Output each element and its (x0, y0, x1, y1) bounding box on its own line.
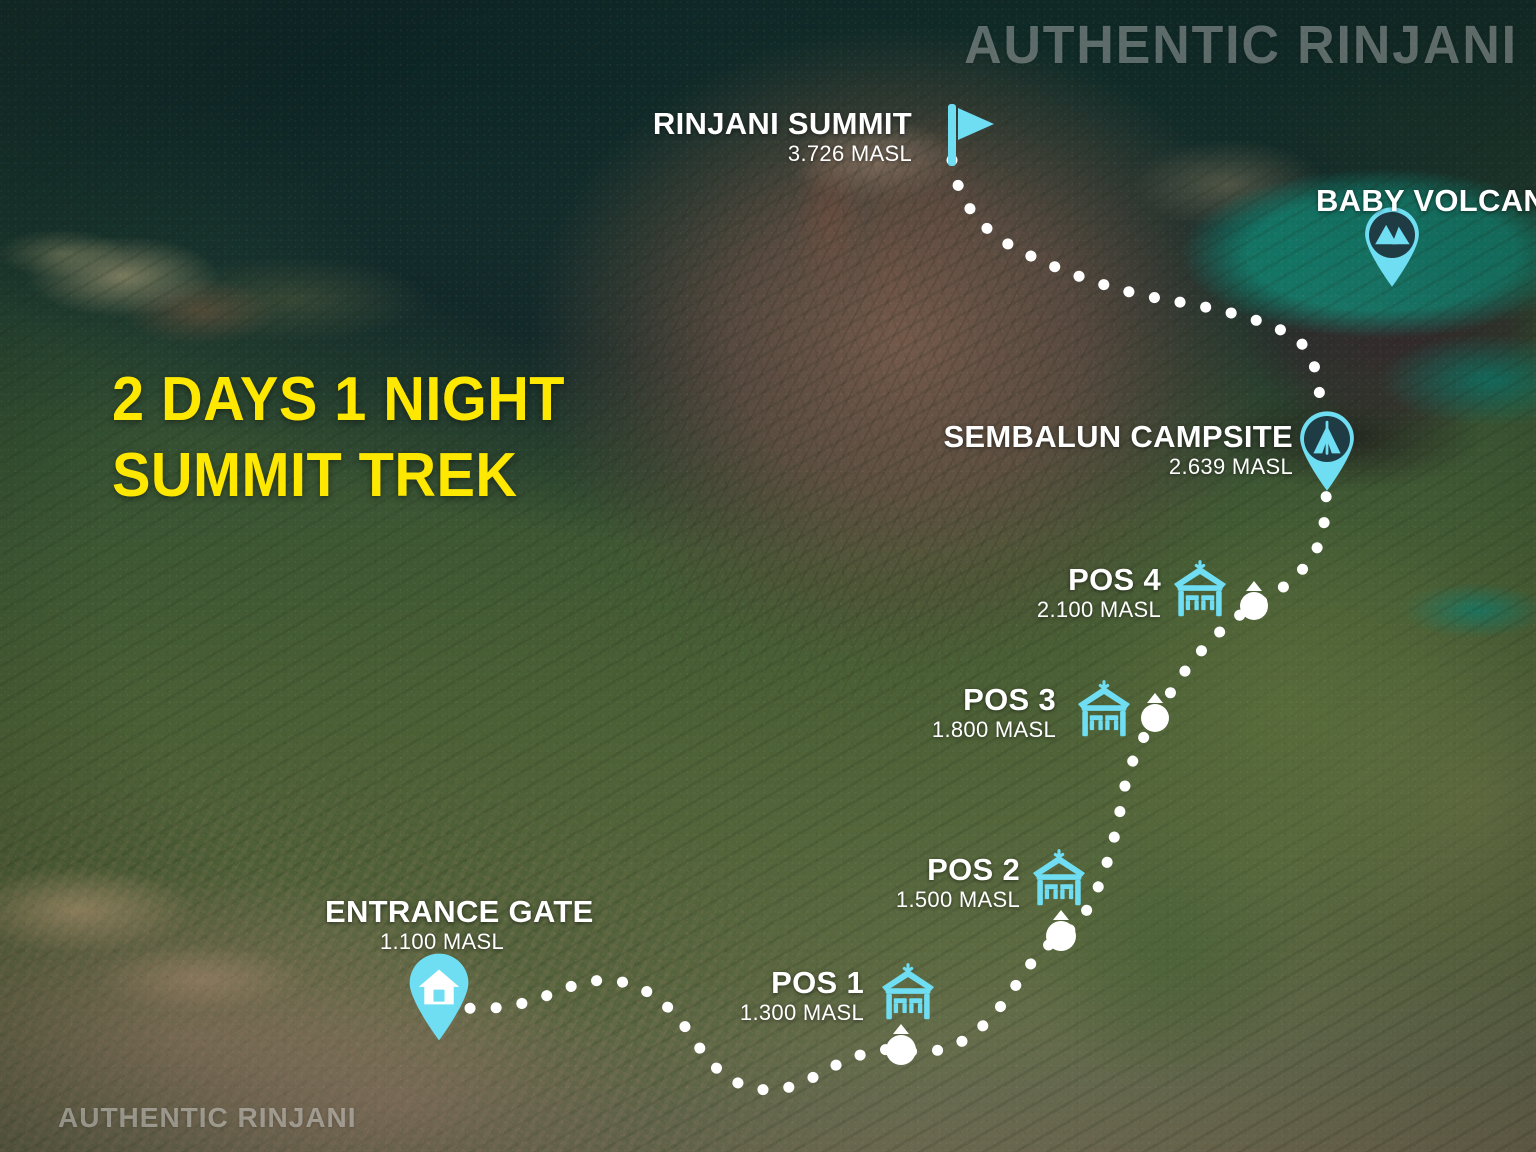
label-elevation: 1.800 MASL (676, 716, 1056, 744)
label-elevation: 1.100 MASL (325, 928, 559, 956)
marker-label-pos-4: POS 4 2.100 MASL (781, 564, 1161, 623)
label-name: BABY VOLCANO (1316, 185, 1536, 217)
marker-label-entrance-gate: ENTRANCE GATE 1.100 MASL (325, 896, 559, 955)
shelter-icon-pos-3[interactable] (1078, 682, 1130, 737)
waypoint-dot[interactable] (1240, 581, 1268, 620)
gate-pin-icon[interactable] (410, 954, 469, 1041)
trek-map-poster: 2 DAYS 1 NIGHT SUMMIT TREK AUTHENTIC RIN… (0, 0, 1536, 1152)
label-elevation: 2.639 MASL (593, 453, 1293, 481)
marker-label-pos-2: POS 2 1.500 MASL (640, 854, 1020, 913)
label-name: ENTRANCE GATE (325, 896, 559, 928)
shelter-icon-pos-4[interactable] (1174, 562, 1226, 617)
label-name: RINJANI SUMMIT (512, 108, 912, 140)
label-name: SEMBALUN CAMPSITE (593, 421, 1293, 453)
flag-icon[interactable] (948, 104, 994, 166)
volcano-pin-icon[interactable] (1365, 207, 1419, 286)
label-elevation: 3.726 MASL (512, 140, 912, 168)
marker-label-rinjani-summit: RINJANI SUMMIT 3.726 MASL (512, 108, 912, 167)
label-name: POS 1 (484, 967, 864, 999)
label-name: POS 2 (640, 854, 1020, 886)
label-name: POS 4 (781, 564, 1161, 596)
label-elevation: 1.500 MASL (640, 886, 1020, 914)
label-elevation: 1.300 MASL (484, 999, 864, 1027)
shelter-icon-pos-1[interactable] (882, 965, 934, 1020)
trail-route-dotted (466, 160, 1326, 1090)
tent-pin-icon[interactable] (1300, 411, 1354, 490)
waypoint-dot[interactable] (886, 1024, 916, 1065)
marker-label-pos-1: POS 1 1.300 MASL (484, 967, 864, 1026)
marker-label-sembalun-campsite: SEMBALUN CAMPSITE 2.639 MASL (593, 421, 1293, 480)
marker-label-pos-3: POS 3 1.800 MASL (676, 684, 1056, 743)
label-name: POS 3 (676, 684, 1056, 716)
marker-label-baby-volcano: BABY VOLCANO (1316, 185, 1536, 217)
waypoint-dot[interactable] (1141, 693, 1169, 732)
trail-waypoints (886, 581, 1268, 1065)
waypoint-dot[interactable] (1046, 910, 1076, 951)
shelter-icon-pos-2[interactable] (1033, 851, 1085, 906)
label-elevation: 2.100 MASL (781, 596, 1161, 624)
